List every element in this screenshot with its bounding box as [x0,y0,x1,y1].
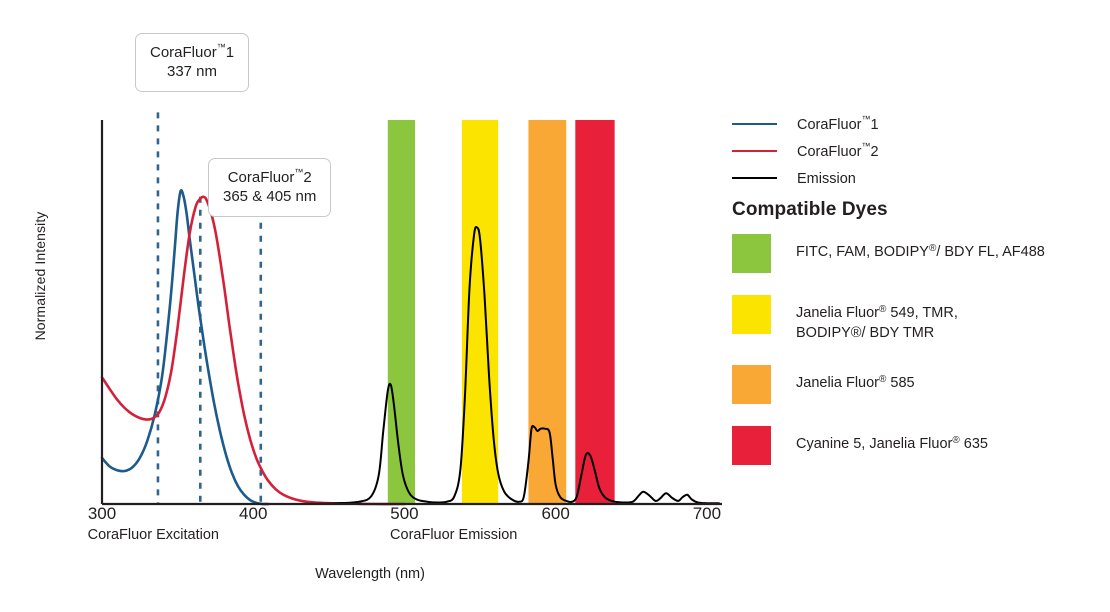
callout-corafluor2: CoraFluor™2 365 & 405 nm [208,158,331,217]
dye-label-yellow: Janelia Fluor® 549, TMR, BODIPY®/ BDY TM… [796,295,958,343]
compatible-dyes-heading: Compatible Dyes [732,199,888,221]
x-tick-label-300: 300 [67,504,137,524]
dye-item-red: Cyanine 5, Janelia Fluor® 635 [730,426,1110,465]
emission-band-red [575,120,614,504]
dye-label-green: FITC, FAM, BODIPY®/ BDY FL, AF488 [796,234,1045,263]
dye-color-swatch-red [732,426,771,465]
legend-label-corafluor2: CoraFluor™2 [797,141,879,160]
dye-color-swatch-yellow [732,295,771,334]
dye-color-swatch-green [732,234,771,273]
dye-label-orange-line1: Janelia Fluor® 585 [796,373,915,394]
series-curve-emission [299,227,719,504]
dye-item-yellow: Janelia Fluor® 549, TMR, BODIPY®/ BDY TM… [730,295,1110,343]
callout-corafluor1-line1: CoraFluor™1 [150,42,234,63]
emission-band-green [388,120,415,504]
legend-panel: CoraFluor™1 CoraFluor™2 Emission Compati… [730,0,1110,612]
spectral-chart-figure: Normalized Intensity 300 400 500 600 700… [0,0,1110,612]
x-tick-label-600: 600 [521,504,591,524]
legend-line-swatch-corafluor1 [732,123,777,125]
series-curve-corafluor2 [102,197,404,504]
dye-item-green: FITC, FAM, BODIPY®/ BDY FL, AF488 [730,234,1110,273]
y-axis-title: Normalized Intensity [32,176,48,376]
legend-line-swatch-corafluor2 [732,150,777,152]
x-axis-title: Wavelength (nm) [0,566,740,582]
series-legend: CoraFluor™1 CoraFluor™2 Emission [730,110,1110,191]
x-tick-label-400: 400 [218,504,288,524]
emission-band-yellow [462,120,498,504]
legend-label-corafluor1: CoraFluor™1 [797,114,879,133]
legend-item-corafluor1: CoraFluor™1 [730,110,1110,137]
dye-label-orange: Janelia Fluor® 585 [796,365,915,394]
dye-label-green-line1: FITC, FAM, BODIPY®/ BDY FL, AF488 [796,242,1045,263]
dye-label-red-line1: Cyanine 5, Janelia Fluor® 635 [796,434,988,455]
dye-color-swatch-orange [732,365,771,404]
callout-corafluor1: CoraFluor™1 337 nm [135,33,249,92]
legend-item-emission: Emission [730,164,1110,191]
callout-corafluor2-line1: CoraFluor™2 [223,167,316,188]
callout-corafluor1-line2: 337 nm [150,63,234,82]
legend-item-corafluor2: CoraFluor™2 [730,137,1110,164]
x-tick-label-500: 500 [369,504,439,524]
dye-item-orange: Janelia Fluor® 585 [730,365,1110,404]
compatible-dyes-list: FITC, FAM, BODIPY®/ BDY FL, AF488 Janeli… [730,234,1110,487]
callout-corafluor2-line2: 365 & 405 nm [223,188,316,207]
dye-label-yellow-line1: Janelia Fluor® 549, TMR, [796,303,958,324]
legend-label-emission: Emission [797,168,856,187]
emission-region-label: CoraFluor Emission [0,527,740,543]
dye-label-yellow-line2: BODIPY®/ BDY TMR [796,324,958,344]
legend-line-swatch-emission [732,177,777,179]
plot-area: Normalized Intensity 300 400 500 600 700… [0,0,740,612]
emission-band-orange [528,120,566,504]
series-curve-corafluor1 [102,190,268,504]
dye-label-red: Cyanine 5, Janelia Fluor® 635 [796,426,988,455]
